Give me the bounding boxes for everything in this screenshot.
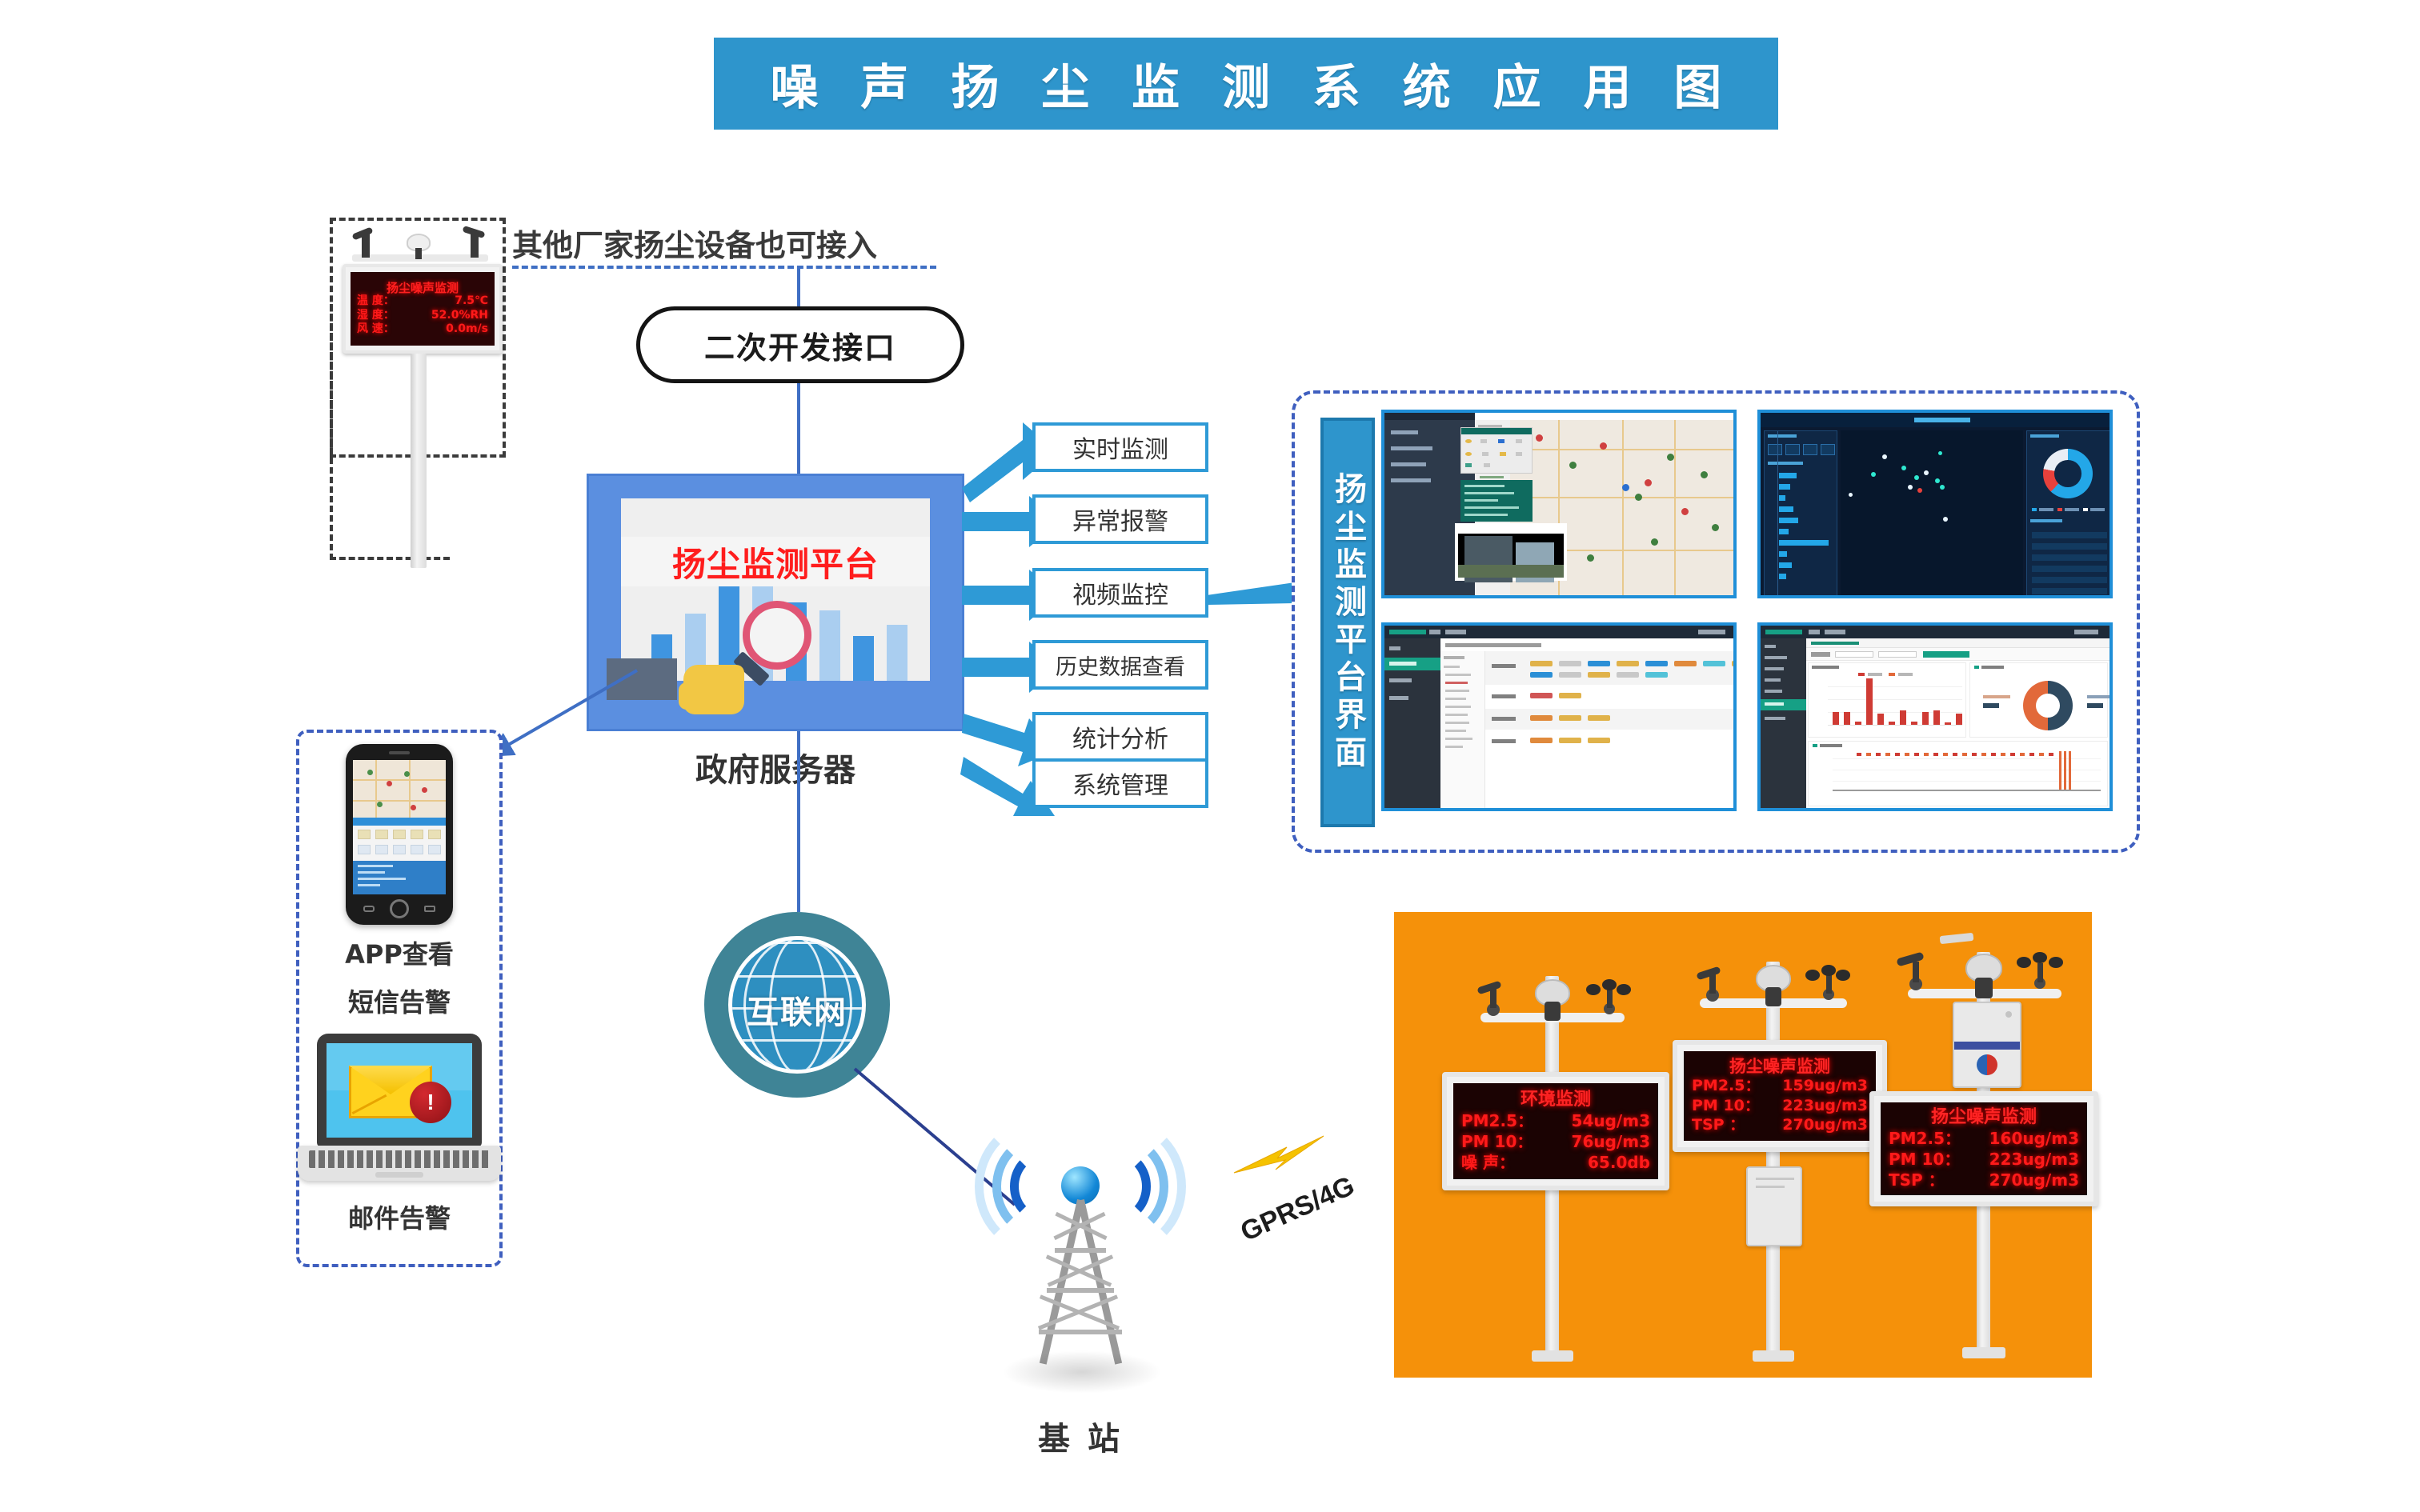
field-board-row: 噪 声： 65.0db (1461, 1152, 1650, 1173)
field-row-value: 54ug/m3 (1572, 1110, 1650, 1131)
field-row-key: TSP ： (1889, 1170, 1945, 1190)
field-board-row: PM2.5： 160ug/m3 (1889, 1128, 2079, 1149)
mail-caption: 邮件告警 (296, 1198, 503, 1235)
wind-vane-icon (1476, 982, 1509, 1018)
solar-panel-icon (1940, 933, 1974, 944)
led-row-key: 温 度： (357, 294, 395, 309)
wind-cup-icon (1805, 966, 1850, 1005)
app-caption: APP查看 (296, 934, 503, 971)
platform-to-internet-line (797, 731, 800, 912)
gprs-4g-label: GPRS/4G (1236, 1170, 1360, 1248)
field-device-3: 扬尘噪声监测 PM2.5： 160ug/m3 PM 10： 223ug/m3 T… (1890, 906, 2082, 1370)
field-board-title: 扬尘噪声监测 (1692, 1057, 1868, 1076)
third-party-note-label: 其他厂家扬尘设备也可接入 (512, 221, 877, 265)
dashboard-left-panel (1764, 430, 1837, 597)
api-box-label: 二次开发接口 (704, 323, 896, 367)
platform-bar (887, 625, 907, 681)
screenshot-dark-dashboard[interactable] (1757, 410, 2113, 598)
brand-logo-icon (1977, 1054, 1997, 1075)
phone-home-button[interactable] (390, 899, 409, 918)
feature-box-alarm[interactable]: 异常报警 (1032, 494, 1208, 544)
platform-ui-vertical-label: 扬尘监测平台界面 (1320, 418, 1375, 827)
hand-icon (683, 665, 744, 714)
device-list-topbar (1384, 626, 1733, 638)
feature-label: 历史数据查看 (1056, 650, 1185, 681)
field-row-value: 223ug/m3 (1989, 1149, 2079, 1170)
statistics-sidebar (1761, 638, 1806, 808)
platform-to-alerts-arrow (480, 664, 640, 768)
platform-bar (819, 610, 840, 681)
tower-beacon-icon (1061, 1166, 1100, 1205)
field-board-row: PM 10： 223ug/m3 (1692, 1096, 1868, 1116)
wind-vane-icon (1695, 968, 1729, 1003)
field-row-key: PM2.5： (1692, 1076, 1761, 1096)
mobile-app-screen (353, 760, 446, 894)
government-server-platform[interactable]: 扬尘监测平台 (587, 474, 964, 731)
field-row-key: 噪 声： (1461, 1152, 1515, 1173)
field-row-key: PM 10： (1889, 1149, 1960, 1170)
led-row-key: 湿 度： (357, 309, 395, 323)
note-to-api-line (797, 266, 800, 308)
base-station-tower (960, 1096, 1200, 1400)
platform-screen: 扬尘监测平台 (621, 498, 930, 681)
base-station-caption: 基 站 (976, 1413, 1184, 1459)
device-list-row (1485, 731, 1733, 752)
field-row-key: PM 10： (1692, 1096, 1760, 1116)
device-list-sidebar (1384, 638, 1440, 808)
device-list-row (1485, 686, 1733, 707)
device-pole (411, 354, 427, 568)
feature-label: 实时监测 (1072, 430, 1168, 465)
field-row-value: 270ug/m3 (1782, 1115, 1868, 1135)
led-row-value: 7.5℃ (455, 294, 488, 309)
feature-box-system[interactable]: 系统管理 (1032, 758, 1208, 808)
feature-box-statistics[interactable]: 统计分析 (1032, 712, 1208, 762)
dashboard-map (1841, 430, 2023, 597)
field-row-value: 223ug/m3 (1782, 1096, 1868, 1116)
device-list-row (1485, 651, 1733, 685)
field-device-1: 环境监测 PM2.5： 54ug/m3 PM 10： 76ug/m3 噪 声： … (1464, 918, 1641, 1366)
diagram-canvas: 噪 声 扬 尘 监 测 系 统 应 用 图 扬尘噪声监测 温 度： 7.5℃ 湿… (0, 0, 2420, 1512)
led-board-row: 湿 度： 52.0%RH (357, 309, 488, 323)
feature-box-history[interactable]: 历史数据查看 (1032, 640, 1208, 690)
field-row-key: PM 10： (1461, 1131, 1533, 1152)
alert-badge-text: ! (427, 1090, 434, 1115)
feature-label: 视频监控 (1072, 575, 1168, 610)
screenshot-map-monitoring[interactable] (1381, 410, 1737, 598)
field-board-row: TSP ： 270ug/m3 (1889, 1170, 2079, 1190)
map-calendar-popup (1460, 427, 1533, 474)
magnifier-icon (743, 601, 811, 670)
field-device-2-board: 扬尘噪声监测 PM2.5： 159ug/m3 PM 10： 223ug/m3 T… (1673, 1040, 1887, 1152)
field-device-1-board: 环境监测 PM2.5： 54ug/m3 PM 10： 76ug/m3 噪 声： … (1442, 1072, 1669, 1190)
field-device-3-board: 扬尘噪声监测 PM2.5： 160ug/m3 PM 10： 223ug/m3 T… (1869, 1091, 2098, 1206)
led-board-title: 扬尘噪声监测 (357, 282, 488, 295)
field-row-key: PM2.5： (1889, 1128, 1961, 1149)
field-device-2: 扬尘噪声监测 PM2.5： 159ug/m3 PM 10： 223ug/m3 T… (1685, 912, 1861, 1370)
feature-label: 统计分析 (1072, 719, 1168, 754)
field-row-value: 270ug/m3 (1989, 1170, 2079, 1190)
field-row-key: PM2.5： (1461, 1110, 1533, 1131)
api-to-platform-line (797, 383, 800, 475)
feature-box-video[interactable]: 视频监控 (1032, 568, 1208, 618)
led-row-key: 风 速： (357, 322, 395, 337)
dashboard-header (1761, 413, 2109, 427)
feature-box-realtime[interactable]: 实时监测 (1032, 422, 1208, 472)
dashboard-right-panel (2026, 430, 2113, 597)
screenshot-device-list[interactable] (1381, 622, 1737, 811)
third-party-led-board: 扬尘噪声监测 温 度： 7.5℃ 湿 度： 52.0%RH 风 速： 0.0m/… (343, 264, 503, 354)
laptop-screen: ! (327, 1043, 472, 1138)
device-control-cabinet (1953, 1002, 2021, 1088)
internet-label: 互联网 (701, 986, 893, 1033)
field-board-row: PM 10： 76ug/m3 (1461, 1131, 1650, 1152)
page-title-bar: 噪 声 扬 尘 监 测 系 统 应 用 图 (714, 38, 1778, 130)
field-board-row: PM2.5： 54ug/m3 (1461, 1110, 1650, 1131)
feature-label: 异常报警 (1072, 502, 1168, 537)
wind-cup-right-icon (471, 234, 479, 258)
platform-bar (853, 636, 874, 681)
field-board-row: PM2.5： 159ug/m3 (1692, 1076, 1868, 1096)
field-row-value: 160ug/m3 (1989, 1128, 2079, 1149)
led-board-row: 温 度： 7.5℃ (357, 294, 488, 309)
wind-vane-left-icon (362, 234, 370, 258)
wind-cup-icon (1586, 981, 1631, 1019)
note-dashed-connector (512, 266, 936, 269)
statistics-topbar (1761, 626, 2109, 638)
led-board-row: 风 速： 0.0m/s (357, 322, 488, 337)
screenshot-statistics[interactable] (1757, 622, 2113, 811)
device-list-row (1485, 709, 1733, 730)
device-list-body (1440, 638, 1733, 808)
feature-label: 系统管理 (1072, 766, 1168, 801)
field-row-key: TSP ： (1692, 1115, 1745, 1135)
field-board-row: PM 10： 223ug/m3 (1889, 1149, 2079, 1170)
map-info-popup (1460, 480, 1533, 522)
map-topbar (1384, 413, 1475, 420)
field-row-value: 65.0db (1588, 1152, 1650, 1173)
email-alert-laptop[interactable]: ! (317, 1034, 482, 1147)
page-title: 噪 声 扬 尘 监 测 系 统 应 用 图 (758, 49, 1735, 118)
lightning-bolt-icon (1231, 1134, 1327, 1181)
mobile-app-device[interactable] (346, 744, 453, 925)
laptop-base (298, 1146, 501, 1181)
platform-screen-title: 扬尘监测平台 (672, 538, 879, 586)
secondary-development-api-box[interactable]: 二次开发接口 (636, 306, 964, 383)
led-row-value: 0.0m/s (446, 322, 488, 337)
led-row-value: 52.0%RH (431, 309, 488, 323)
rain-sensor-stem-icon (415, 248, 422, 259)
map-video-feed (1455, 523, 1567, 581)
field-board-title: 扬尘噪声监测 (1889, 1107, 2079, 1127)
platform-caption: 政府服务器 (587, 744, 964, 790)
field-row-value: 76ug/m3 (1572, 1131, 1650, 1152)
wind-cup-icon (2017, 954, 2063, 994)
field-row-value: 159ug/m3 (1782, 1076, 1868, 1096)
platform-title-strip: 扬尘监测平台 (621, 537, 930, 586)
sms-caption: 短信告警 (296, 982, 503, 1019)
dashboard-donut-chart (2043, 449, 2093, 498)
field-board-title: 环境监测 (1461, 1090, 1650, 1110)
statistics-body (1806, 638, 2109, 808)
vertical-label-text: 扬尘监测平台界面 (1324, 472, 1371, 773)
field-board-row: TSP ： 270ug/m3 (1692, 1115, 1868, 1135)
wind-vane-icon (1898, 955, 1935, 992)
alert-badge-icon: ! (410, 1082, 451, 1123)
device-control-box (1746, 1166, 1802, 1246)
